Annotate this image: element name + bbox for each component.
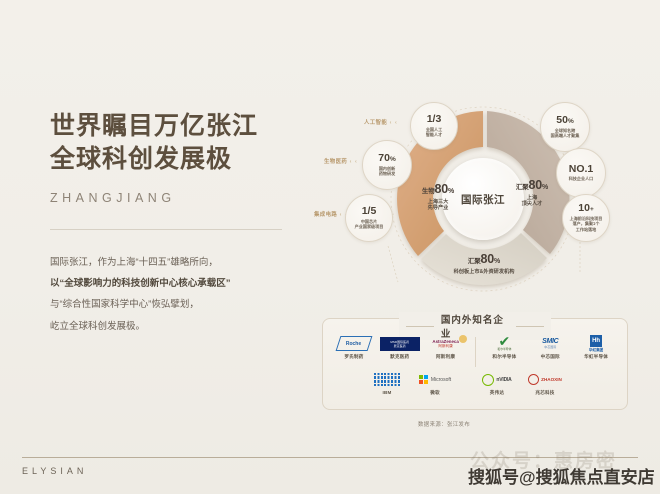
stat-ic-number: 1/5	[362, 205, 377, 217]
title-divider	[50, 229, 282, 230]
stat-global-caption: 全球知名跨国高端人才聚集	[551, 128, 580, 139]
category-bio-text: 生物医药	[324, 159, 347, 165]
stat-bubble-no1: NO.1 科技企业人口	[556, 148, 606, 198]
stat-bio-caption: 国内创新药物研发	[379, 166, 395, 177]
title-line-right	[516, 326, 544, 327]
stat-global-unit: %	[568, 118, 574, 125]
ibm-logo-icon	[374, 371, 400, 388]
title-line-left	[406, 326, 434, 327]
headline-line-2: 全球科创发展极	[50, 143, 320, 176]
body-line-1: 国际张江，作为上海“十四五”雄略所向，	[50, 252, 320, 273]
company-name-roche: 罗氏制药	[344, 354, 363, 360]
company-name-huahong: 华虹半导体	[584, 354, 608, 360]
page-title: 世界瞩目万亿张江 全球科创发展极	[50, 110, 320, 177]
company-name-microsoft: 微软	[430, 390, 440, 396]
category-label-ic: 集成电路 ‹ ‹	[314, 210, 348, 218]
stat-projects-caption: 上海前沿科技项目落户，集聚1个工作站落地	[570, 216, 603, 233]
category-label-ai: 人工智能 ‹ ‹	[364, 118, 398, 126]
companies-panel: 国内外知名企业 Roche 罗氏制药 MSD国际医药默克医药 默克医药	[322, 318, 628, 410]
stat-bubble-global-talent: 50% 全球知名跨国高端人才聚集	[540, 102, 590, 152]
left-text-column: 世界瞩目万亿张江 全球科创发展极 ZHANGJIANG 国际张江，作为上海“十四…	[50, 110, 320, 337]
company-ibm: IBM	[363, 371, 411, 395]
company-name-huaer: 和尔半导体	[492, 354, 516, 360]
body-copy: 国际张江，作为上海“十四五”雄略所向， 以“全球影响力的科技创新中心核心承载区”…	[50, 252, 320, 338]
logo-row-1: Roche 罗氏制药 MSD国际医药默克医药 默克医药 AstraZeneca阿…	[331, 335, 619, 367]
stat-bubble-projects: 10+ 上海前沿科技项目落户，集聚1个工作站落地	[562, 194, 610, 242]
center-label: 国际张江	[461, 192, 505, 207]
stat-bubble-bio: 70% 国内创新药物研发	[362, 140, 412, 190]
stat-bio-unit: %	[390, 156, 396, 163]
body-line-4: 屹立全球科创发展极。	[50, 316, 320, 337]
stat-bio-number: 70	[378, 152, 390, 164]
stat-ai-number: 1/3	[427, 113, 442, 125]
body-line-2: 以“全球影响力的科技创新中心核心承载区”	[50, 273, 320, 294]
zhaoxin-logo-icon: ZHAOXIN	[528, 371, 562, 388]
donut-chart: 国际张江 生物80% 上海三大先导产业 汇聚80% 上海顶尖人才 汇聚80% 科…	[318, 96, 648, 306]
stat-projects-unit: +	[590, 206, 594, 213]
logo-divider	[475, 337, 476, 367]
company-name-ibm: IBM	[382, 390, 391, 395]
watermark-main: 搜狐号@搜狐焦点直安店	[468, 463, 655, 488]
logo-row-2: IBM Microsoft 微软 nVIDIA 英伟达	[331, 371, 619, 396]
huahong-logo-icon: Hh华虹集团	[589, 335, 603, 352]
segment-listed	[421, 233, 547, 285]
company-huahong: Hh华虹集团 华虹半导体	[573, 335, 619, 360]
company-name-nvidia: 英伟达	[490, 390, 504, 396]
body-line-3: 与“综合性国家科学中心”恢弘擘划，	[50, 294, 320, 315]
merck-logo-icon: MSD国际医药默克医药	[380, 335, 420, 352]
company-name-astrazeneca: 阿斯利康	[436, 354, 455, 360]
stat-global-number: 50	[556, 114, 568, 126]
category-label-bio: 生物医药 ‹ ‹	[324, 157, 358, 165]
category-ic-text: 集成电路	[314, 212, 337, 218]
brand-logo: ELYSIAN	[22, 466, 87, 476]
huaerweidao-logo-icon: ✔和尔半导体	[497, 335, 511, 352]
logo-grid: Roche 罗氏制药 MSD国际医药默克医药 默克医药 AstraZeneca阿…	[331, 335, 619, 396]
company-name-zhaoxin: 兆芯科技	[535, 390, 554, 396]
slide-canvas: 世界瞩目万亿张江 全球科创发展极 ZHANGJIANG 国际张江，作为上海“十四…	[0, 0, 660, 494]
company-name-merck: 默克医药	[390, 354, 409, 360]
company-microsoft: Microsoft 微软	[411, 371, 459, 396]
microsoft-logo-icon: Microsoft	[419, 371, 451, 388]
stat-no1-caption: 科技企业人口	[569, 176, 594, 182]
category-ai-text: 人工智能	[364, 120, 387, 126]
company-roche: Roche 罗氏制药	[331, 335, 377, 360]
company-merck: MSD国际医药默克医药 默克医药	[377, 335, 423, 360]
stat-projects-number: 10	[578, 202, 590, 214]
company-name-smic: 中芯国际	[541, 354, 560, 360]
headline-line-1: 世界瞩目万亿张江	[50, 110, 320, 143]
company-zhaoxin: ZHAOXIN 兆芯科技	[521, 371, 569, 396]
company-smic: SMIC中芯国际 中芯国际	[527, 335, 573, 360]
donut-center: 国际张江	[442, 158, 524, 240]
company-huaer: ✔和尔半导体 和尔半导体	[481, 335, 527, 360]
stat-bubble-ai: 1/3 全国人工智能人才	[410, 102, 458, 150]
smic-logo-icon: SMIC中芯国际	[542, 335, 558, 352]
roche-logo-icon: Roche	[338, 335, 370, 352]
astrazeneca-logo-icon: AstraZeneca阿斯利康	[432, 335, 458, 352]
stat-bubble-ic: 1/5 中国芯片产业国家级项目	[345, 194, 393, 242]
nvidia-logo-icon: nVIDIA	[482, 371, 511, 388]
company-astrazeneca: AstraZeneca阿斯利康 阿斯利康	[423, 335, 469, 360]
stat-ic-caption: 中国芯片产业国家级项目	[355, 219, 384, 230]
source-note: 数据来源：张江发布	[418, 420, 470, 428]
pinyin-subtitle: ZHANGJIANG	[50, 191, 320, 205]
stat-no1-number: NO.1	[569, 163, 594, 175]
stat-ai-caption: 全国人工智能人才	[426, 127, 442, 138]
company-nvidia: nVIDIA 英伟达	[473, 371, 521, 396]
